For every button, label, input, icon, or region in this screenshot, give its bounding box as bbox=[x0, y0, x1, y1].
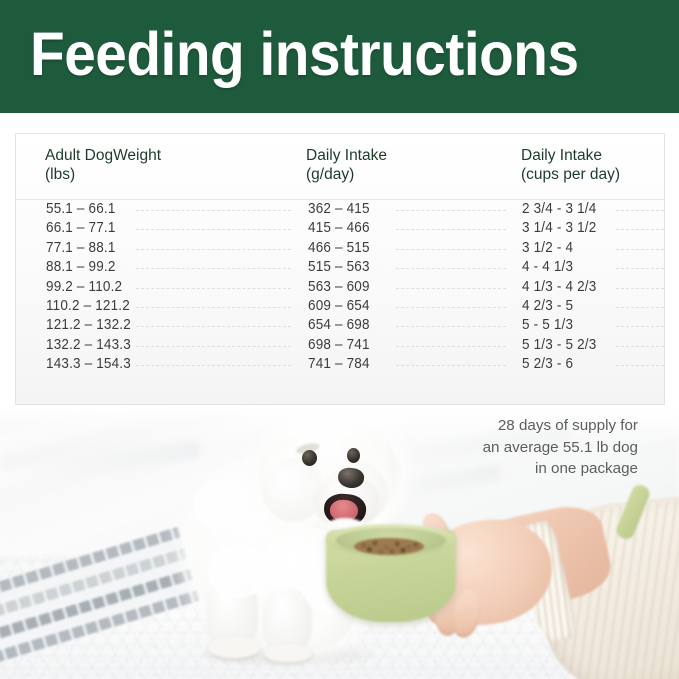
table-cell-weight: 55.1 – 66.1 bbox=[46, 199, 116, 218]
feeding-instructions-panel: Feeding instructions Adult DogWeight (lb… bbox=[0, 0, 679, 679]
table-row: 143.3 – 154.3741 – 7845 2/3 - 6 bbox=[16, 354, 664, 373]
leader-line bbox=[616, 365, 664, 366]
dog-fur-tuft bbox=[194, 480, 248, 528]
leader-line bbox=[396, 229, 506, 230]
table-row: 121.2 – 132.2654 – 6985 - 5 1/3 bbox=[16, 315, 664, 334]
table-cell-weight: 66.1 – 77.1 bbox=[46, 218, 116, 237]
table-cell-weight: 88.1 – 99.2 bbox=[46, 257, 116, 276]
table-row: 77.1 – 88.1466 – 5153 1/2 - 4 bbox=[16, 238, 664, 257]
hand-with-bowl bbox=[330, 506, 679, 679]
leader-line bbox=[616, 249, 664, 250]
table-cell-grams: 741 – 784 bbox=[308, 354, 370, 373]
table-cell-cups: 4 - 4 1/3 bbox=[522, 257, 573, 276]
leader-line bbox=[616, 326, 664, 327]
leader-line bbox=[136, 210, 291, 211]
leader-line bbox=[616, 268, 664, 269]
supply-caption: 28 days of supply for an average 55.1 lb… bbox=[338, 415, 638, 480]
leader-line bbox=[616, 210, 664, 211]
leader-line bbox=[616, 229, 664, 230]
dog-paw-right bbox=[264, 644, 312, 662]
table-cell-weight: 99.2 – 110.2 bbox=[46, 277, 122, 296]
table-cell-weight: 77.1 – 88.1 bbox=[46, 238, 116, 257]
leader-line bbox=[396, 365, 506, 366]
column-header-cups: Daily Intake (cups per day) bbox=[521, 146, 620, 184]
table-cell-grams: 698 – 741 bbox=[308, 335, 370, 354]
leader-line bbox=[396, 346, 506, 347]
leader-line bbox=[136, 326, 291, 327]
leader-line bbox=[136, 365, 291, 366]
table-row: 55.1 – 66.1362 – 4152 3/4 - 3 1/4 bbox=[16, 199, 664, 218]
leader-line bbox=[396, 268, 506, 269]
table-row: 88.1 – 99.2515 – 5634 - 4 1/3 bbox=[16, 257, 664, 276]
table-body: 55.1 – 66.1362 – 4152 3/4 - 3 1/466.1 – … bbox=[16, 199, 664, 404]
table-cell-cups: 5 2/3 - 6 bbox=[522, 354, 573, 373]
kibble-food bbox=[354, 538, 424, 555]
page-title: Feeding instructions bbox=[30, 18, 579, 90]
table-row: 110.2 – 121.2609 – 6544 2/3 - 5 bbox=[16, 296, 664, 315]
table-cell-weight: 121.2 – 132.2 bbox=[46, 315, 131, 334]
table-cell-grams: 415 – 466 bbox=[308, 218, 370, 237]
table-cell-cups: 5 - 5 1/3 bbox=[522, 315, 573, 334]
header-banner: Feeding instructions bbox=[0, 0, 679, 113]
column-header-weight: Adult DogWeight (lbs) bbox=[45, 146, 161, 184]
table-cell-weight: 143.3 – 154.3 bbox=[46, 354, 131, 373]
leader-line bbox=[396, 288, 506, 289]
leader-line bbox=[136, 229, 291, 230]
dog-paw-left bbox=[208, 636, 260, 658]
leader-line bbox=[616, 346, 664, 347]
leader-line bbox=[136, 249, 291, 250]
table-cell-grams: 515 – 563 bbox=[308, 257, 370, 276]
leader-line bbox=[396, 249, 506, 250]
table-cell-cups: 2 3/4 - 3 1/4 bbox=[522, 199, 596, 218]
table-row: 66.1 – 77.1415 – 4663 1/4 - 3 1/2 bbox=[16, 218, 664, 237]
leader-line bbox=[396, 210, 506, 211]
table-cell-grams: 654 – 698 bbox=[308, 315, 370, 334]
leader-line bbox=[396, 326, 506, 327]
table-cell-grams: 466 – 515 bbox=[308, 238, 370, 257]
table-row: 132.2 – 143.3698 – 7415 1/3 - 5 2/3 bbox=[16, 335, 664, 354]
leader-line bbox=[136, 288, 291, 289]
table-cell-grams: 362 – 415 bbox=[308, 199, 370, 218]
leader-line bbox=[396, 307, 506, 308]
leader-line bbox=[136, 268, 291, 269]
dog-eye-left bbox=[302, 450, 317, 466]
leader-line bbox=[136, 307, 291, 308]
table-cell-cups: 3 1/2 - 4 bbox=[522, 238, 573, 257]
table-cell-weight: 132.2 – 143.3 bbox=[46, 335, 131, 354]
feeding-table: Adult DogWeight (lbs) Daily Intake (g/da… bbox=[15, 133, 665, 405]
table-cell-grams: 563 – 609 bbox=[308, 277, 370, 296]
leader-line bbox=[616, 307, 664, 308]
table-cell-cups: 5 1/3 - 5 2/3 bbox=[522, 335, 596, 354]
table-cell-cups: 4 1/3 - 4 2/3 bbox=[522, 277, 596, 296]
table-cell-cups: 3 1/4 - 3 1/2 bbox=[522, 218, 596, 237]
table-cell-weight: 110.2 – 121.2 bbox=[46, 296, 130, 315]
table-cell-cups: 4 2/3 - 5 bbox=[522, 296, 573, 315]
leader-line bbox=[136, 346, 291, 347]
table-header-row: Adult DogWeight (lbs) Daily Intake (g/da… bbox=[16, 134, 664, 200]
leader-line bbox=[616, 288, 664, 289]
table-row: 99.2 – 110.2563 – 6094 1/3 - 4 2/3 bbox=[16, 277, 664, 296]
table-cell-grams: 609 – 654 bbox=[308, 296, 370, 315]
dog-fur-tuft bbox=[208, 546, 268, 598]
column-header-grams: Daily Intake (g/day) bbox=[306, 146, 387, 184]
